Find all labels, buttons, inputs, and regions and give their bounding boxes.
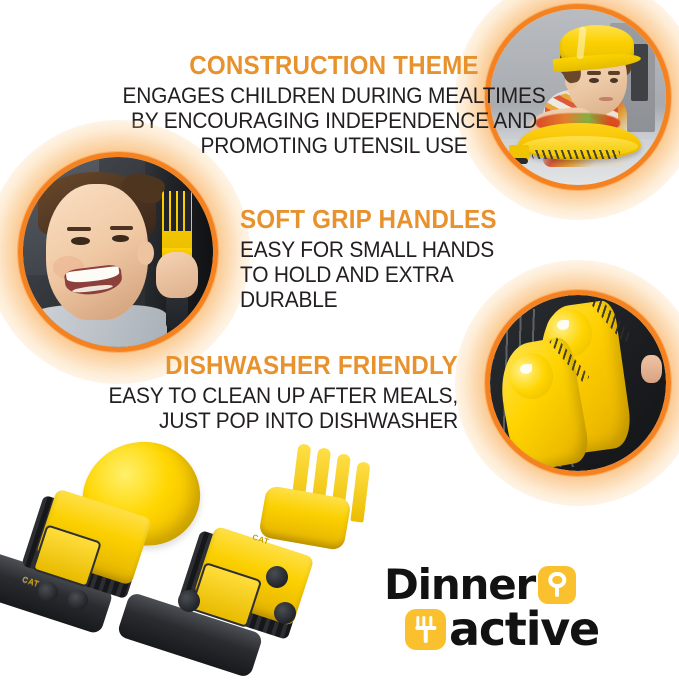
spoon-icon xyxy=(538,566,576,604)
feature-dishwasher-friendly: DISHWASHER FRIENDLY EASY TO CLEAN UP AFT… xyxy=(58,352,458,434)
infographic-canvas: CONSTRUCTION THEME ENGAGES CHILDREN DURI… xyxy=(0,0,679,684)
logo-row-active: active xyxy=(402,602,599,656)
feature-heading-dishwasher-friendly: DISHWASHER FRIENDLY xyxy=(86,352,458,379)
brand-logo: Dinner active xyxy=(384,560,670,660)
fork-icon xyxy=(405,609,446,650)
fork-utensil: CAT xyxy=(144,444,364,684)
fork-utensil-in-photo xyxy=(162,191,192,256)
feature-body-line: PROMOTING UTENSIL USE xyxy=(97,134,572,159)
feature-construction-theme: CONSTRUCTION THEME ENGAGES CHILDREN DURI… xyxy=(84,52,584,159)
feature-body-line: ENGAGES CHILDREN DURING MEALTIMES xyxy=(97,84,572,109)
utensil-product-photo: CAT CAT xyxy=(0,430,364,684)
feature-body-line: EASY TO CLEAN UP AFTER MEALS, xyxy=(78,384,458,409)
boy-fork-photo xyxy=(18,152,218,352)
feature-body-line: BY ENCOURAGING INDEPENDENCE AND xyxy=(97,109,572,134)
feature-heading-soft-grip-handles: SOFT GRIP HANDLES xyxy=(240,206,519,233)
logo-word-active: active xyxy=(449,602,599,656)
feature-heading-construction-theme: CONSTRUCTION THEME xyxy=(102,52,567,79)
feature-body-line: TO HOLD AND EXTRA xyxy=(240,263,525,288)
dishwasher-photo xyxy=(485,290,671,476)
feature-body-line: DURABLE xyxy=(240,288,525,313)
feature-body-line: EASY FOR SMALL HANDS xyxy=(240,238,525,263)
